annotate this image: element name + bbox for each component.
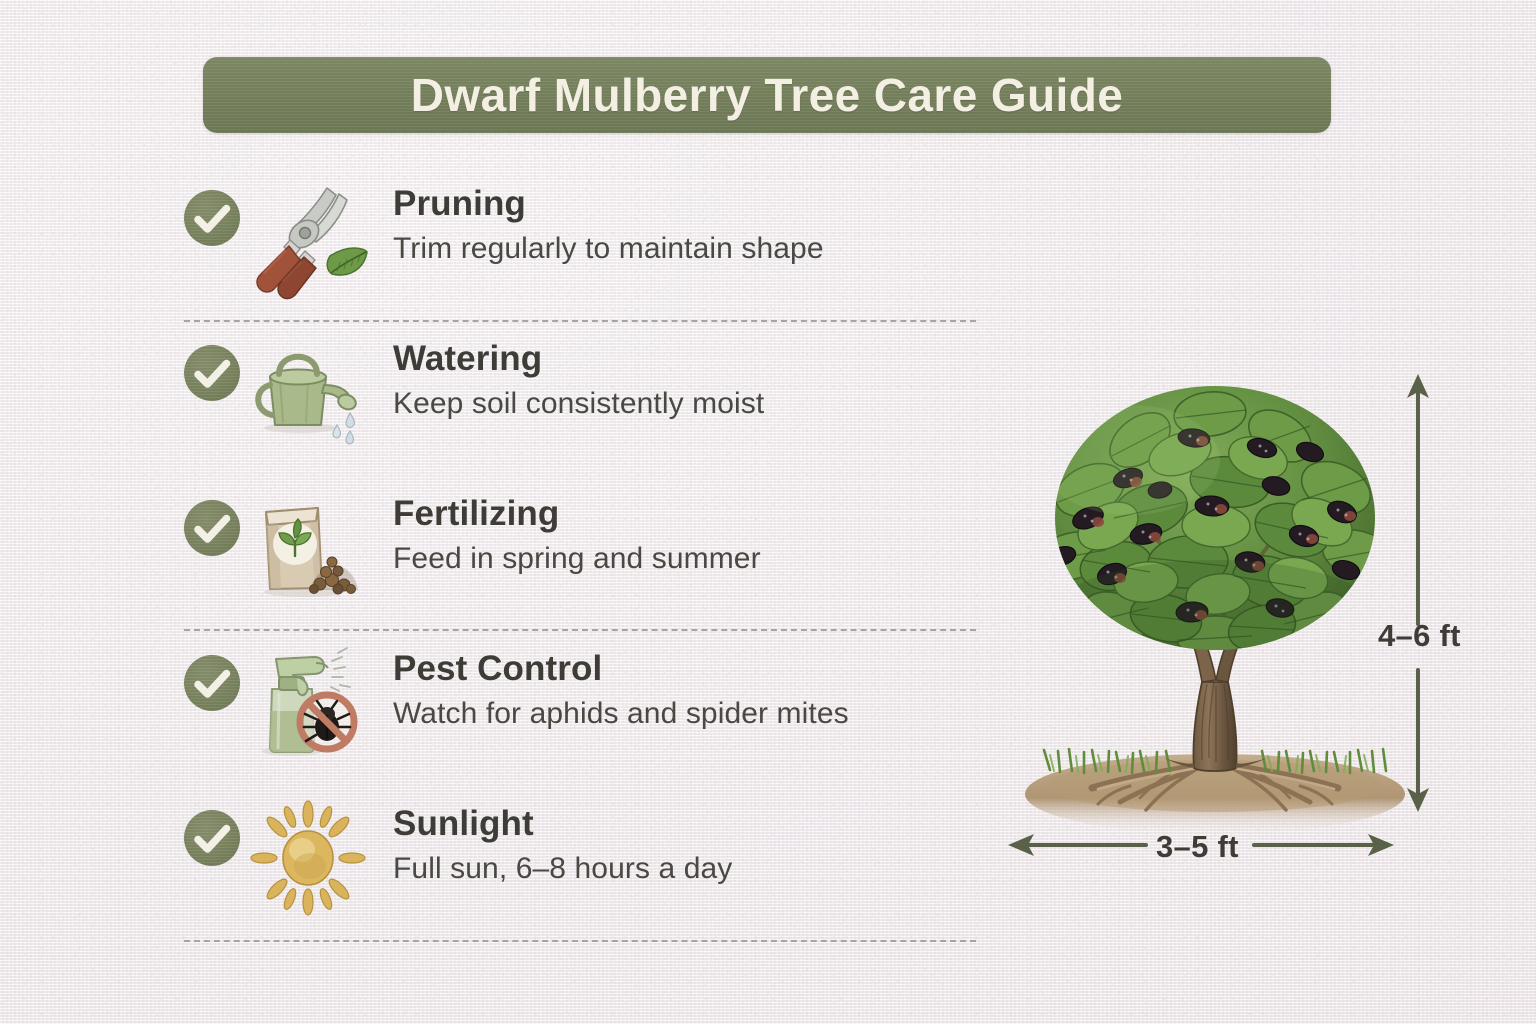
care-item-title: Pruning: [393, 184, 824, 223]
care-item-sunlight: Sunlight Full sun, 6–8 hours a day: [180, 798, 980, 953]
care-item-text: Sunlight Full sun, 6–8 hours a day: [393, 804, 732, 887]
row-divider: [184, 320, 976, 322]
care-item-title: Sunlight: [393, 804, 732, 843]
care-item-title: Fertilizing: [393, 494, 761, 533]
watering-can-icon: [248, 333, 368, 453]
infographic-page: Dwarf Mulberry Tree Care Guide: [0, 0, 1536, 1024]
care-item-title: Pest Control: [393, 649, 849, 688]
check-icon: [184, 345, 240, 401]
care-item-description: Watch for aphids and spider mites: [393, 696, 849, 732]
page-title-banner: Dwarf Mulberry Tree Care Guide: [203, 57, 1331, 133]
care-list: Pruning Trim regularly to maintain shape: [180, 178, 980, 953]
care-item-fertilizing: Fertilizing Feed in spring and summer: [180, 488, 980, 643]
care-item-text: Fertilizing Feed in spring and summer: [393, 494, 761, 577]
care-item-pruning: Pruning Trim regularly to maintain shape: [180, 178, 980, 333]
spray-bottle-no-bug-icon: [248, 643, 368, 763]
care-item-description: Full sun, 6–8 hours a day: [393, 851, 732, 887]
care-item-text: Pest Control Watch for aphids and spider…: [393, 649, 849, 732]
care-item-title: Watering: [393, 339, 764, 378]
check-icon: [184, 810, 240, 866]
height-dimension-arrow: [1395, 372, 1441, 814]
width-dimension-label: 3–5 ft: [1156, 829, 1239, 865]
care-item-description: Trim regularly to maintain shape: [393, 231, 824, 267]
care-item-description: Keep soil consistently moist: [393, 386, 764, 422]
care-item-description: Feed in spring and summer: [393, 541, 761, 577]
check-icon: [184, 655, 240, 711]
care-item-text: Watering Keep soil consistently moist: [393, 339, 764, 422]
care-item-text: Pruning Trim regularly to maintain shape: [393, 184, 824, 267]
care-item-pest-control: Pest Control Watch for aphids and spider…: [180, 643, 980, 798]
fertilizer-bag-icon: [248, 488, 368, 608]
check-icon: [184, 190, 240, 246]
page-title: Dwarf Mulberry Tree Care Guide: [411, 68, 1123, 122]
check-icon: [184, 500, 240, 556]
height-dimension-label: 4–6 ft: [1378, 618, 1461, 654]
care-item-watering: Watering Keep soil consistently moist: [180, 333, 980, 488]
sun-icon: [248, 798, 368, 918]
pruning-shears-icon: [248, 178, 368, 298]
